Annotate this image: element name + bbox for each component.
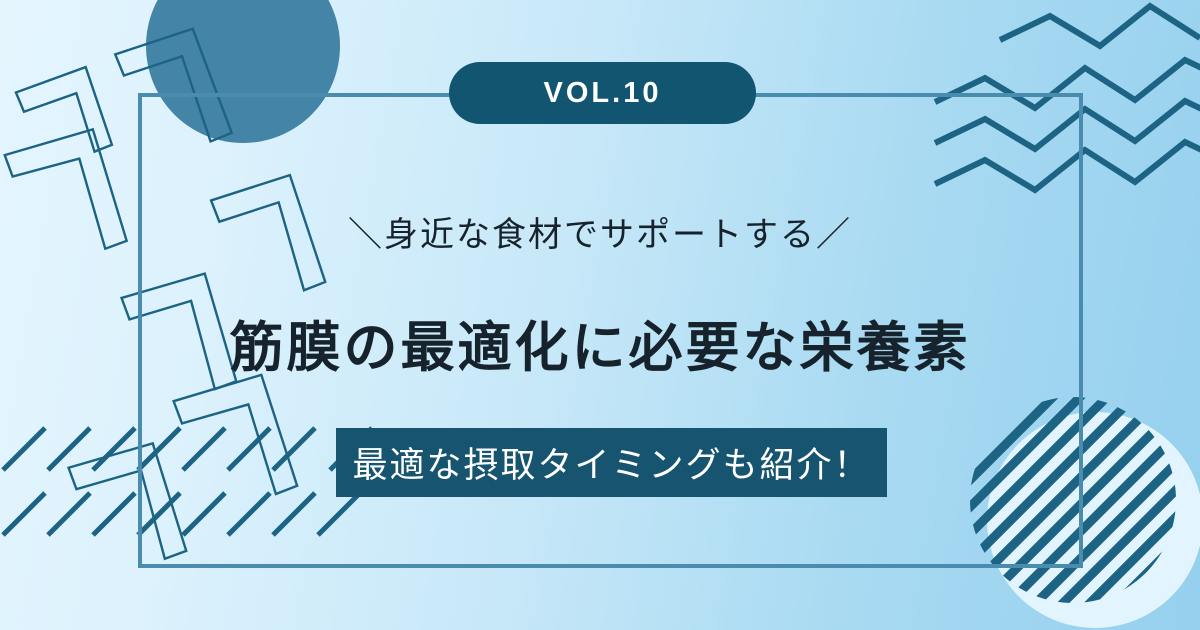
headline-text: 筋膜の最適化に必要な栄養素: [0, 303, 1200, 382]
banner-canvas: VOL.10 ＼身近な食材でサポートする／ 筋膜の最適化に必要な栄養素 最適な摂…: [0, 0, 1200, 630]
tagline-banner: 最適な摂取タイミングも紹介！: [336, 428, 887, 497]
content-block: ＼身近な食材でサポートする／ 筋膜の最適化に必要な栄養素 最適な摂取タイミングも…: [0, 0, 1200, 630]
tagline-text: 最適な摂取タイミングも紹介！: [352, 437, 870, 488]
subtitle-text: ＼身近な食材でサポートする／: [0, 207, 1200, 256]
